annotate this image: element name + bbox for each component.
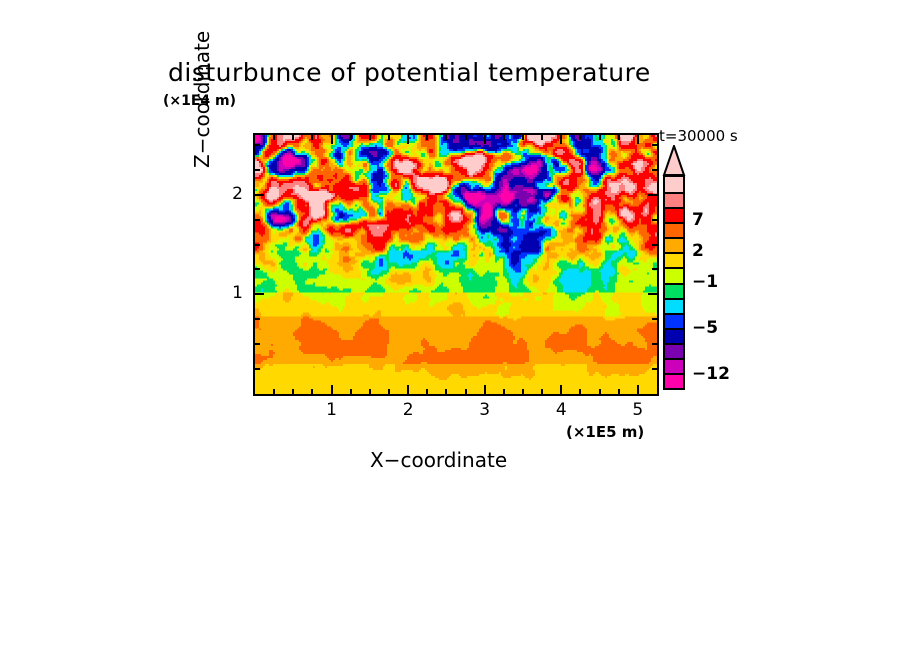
tick-mark	[292, 389, 294, 394]
colorbar-band	[665, 328, 683, 343]
tick-mark	[648, 293, 657, 295]
colorbar-separator	[665, 192, 683, 194]
temperature-field	[255, 135, 657, 394]
colorbar-tick-label: 2	[692, 241, 704, 261]
tick-mark	[579, 135, 581, 140]
tick-mark	[255, 318, 260, 320]
tick-mark	[637, 135, 639, 144]
tick-mark	[560, 385, 562, 394]
tick-mark	[652, 343, 657, 345]
tick-mark	[541, 135, 543, 140]
x-tick-label: 2	[393, 400, 423, 420]
colorbar-separator	[665, 207, 683, 209]
tick-mark	[465, 135, 467, 140]
tick-mark	[648, 194, 657, 196]
colorbar-band	[665, 267, 683, 282]
colorbar-separator	[665, 328, 683, 330]
tick-mark	[484, 385, 486, 394]
tick-mark	[273, 135, 275, 140]
colorbar-band	[665, 313, 683, 328]
tick-mark	[292, 135, 294, 140]
colorbar-separator	[665, 267, 683, 269]
tick-mark	[426, 135, 428, 140]
tick-mark	[255, 293, 264, 295]
tick-mark	[637, 385, 639, 394]
tick-mark	[541, 389, 543, 394]
tick-mark	[369, 135, 371, 140]
colorbar-band	[665, 283, 683, 298]
x-tick-label: 3	[470, 400, 500, 420]
colorbar-separator	[665, 222, 683, 224]
tick-mark	[311, 135, 313, 140]
tick-mark	[273, 389, 275, 394]
x-axis-unit-label: (×1E5 m)	[566, 423, 644, 441]
x-axis-title: X−coordinate	[370, 448, 507, 472]
x-tick-label: 1	[317, 400, 347, 420]
tick-mark	[522, 135, 524, 140]
tick-mark	[255, 219, 260, 221]
tick-mark	[579, 389, 581, 394]
y-tick-label: 1	[213, 283, 243, 303]
colorbar-separator	[665, 252, 683, 254]
tick-mark	[331, 385, 333, 394]
tick-mark	[503, 389, 505, 394]
colorbar-separator	[665, 298, 683, 300]
page-title: disturbunce of potential temperature	[168, 58, 768, 87]
tick-mark	[652, 144, 657, 146]
tick-mark	[503, 135, 505, 140]
tick-mark	[350, 135, 352, 140]
x-tick-label: 5	[623, 400, 653, 420]
tick-mark	[369, 389, 371, 394]
colorbar-band	[665, 237, 683, 252]
tick-mark	[465, 389, 467, 394]
tick-mark	[426, 389, 428, 394]
tick-mark	[407, 135, 409, 144]
tick-mark	[350, 389, 352, 394]
colorbar-band	[665, 358, 683, 373]
colorbar-separator	[665, 237, 683, 239]
tick-mark	[484, 135, 486, 144]
tick-mark	[652, 318, 657, 320]
colorbar	[663, 175, 685, 390]
tick-mark	[255, 268, 260, 270]
tick-mark	[311, 389, 313, 394]
tick-mark	[618, 389, 620, 394]
colorbar-tick-label: −1	[692, 272, 718, 292]
colorbar-band	[665, 373, 683, 388]
colorbar-arrow-icon	[661, 145, 687, 176]
contour-plot-area	[253, 133, 659, 396]
colorbar-band	[665, 192, 683, 207]
tick-mark	[618, 135, 620, 140]
tick-mark	[255, 343, 260, 345]
time-annotation: t=30000 s	[659, 127, 738, 145]
tick-mark	[445, 135, 447, 140]
y-tick-label: 2	[213, 184, 243, 204]
tick-mark	[560, 135, 562, 144]
tick-mark	[445, 389, 447, 394]
tick-mark	[522, 389, 524, 394]
tick-mark	[255, 244, 260, 246]
colorbar-tick-label: 7	[692, 210, 704, 230]
colorbar-tick-label: −5	[692, 318, 718, 338]
tick-mark	[652, 169, 657, 171]
colorbar-separator	[665, 373, 683, 375]
tick-mark	[255, 144, 260, 146]
tick-mark	[599, 389, 601, 394]
tick-mark	[652, 268, 657, 270]
colorbar-band	[665, 298, 683, 313]
tick-mark	[652, 368, 657, 370]
tick-mark	[255, 368, 260, 370]
colorbar-band	[665, 222, 683, 237]
colorbar-band	[665, 252, 683, 267]
tick-mark	[388, 389, 390, 394]
colorbar-band	[665, 177, 683, 192]
tick-mark	[652, 244, 657, 246]
colorbar-separator	[665, 358, 683, 360]
tick-mark	[331, 135, 333, 144]
colorbar-separator	[665, 313, 683, 315]
tick-mark	[652, 219, 657, 221]
colorbar-tick-label: −12	[692, 364, 730, 384]
tick-mark	[255, 194, 264, 196]
colorbar-separator	[665, 343, 683, 345]
y-axis-title: Z−coordinate	[190, 31, 214, 168]
tick-mark	[407, 385, 409, 394]
tick-mark	[599, 135, 601, 140]
tick-mark	[388, 135, 390, 140]
colorbar-separator	[665, 283, 683, 285]
x-tick-label: 4	[546, 400, 576, 420]
colorbar-band	[665, 207, 683, 222]
tick-mark	[255, 169, 260, 171]
colorbar-band	[665, 343, 683, 358]
